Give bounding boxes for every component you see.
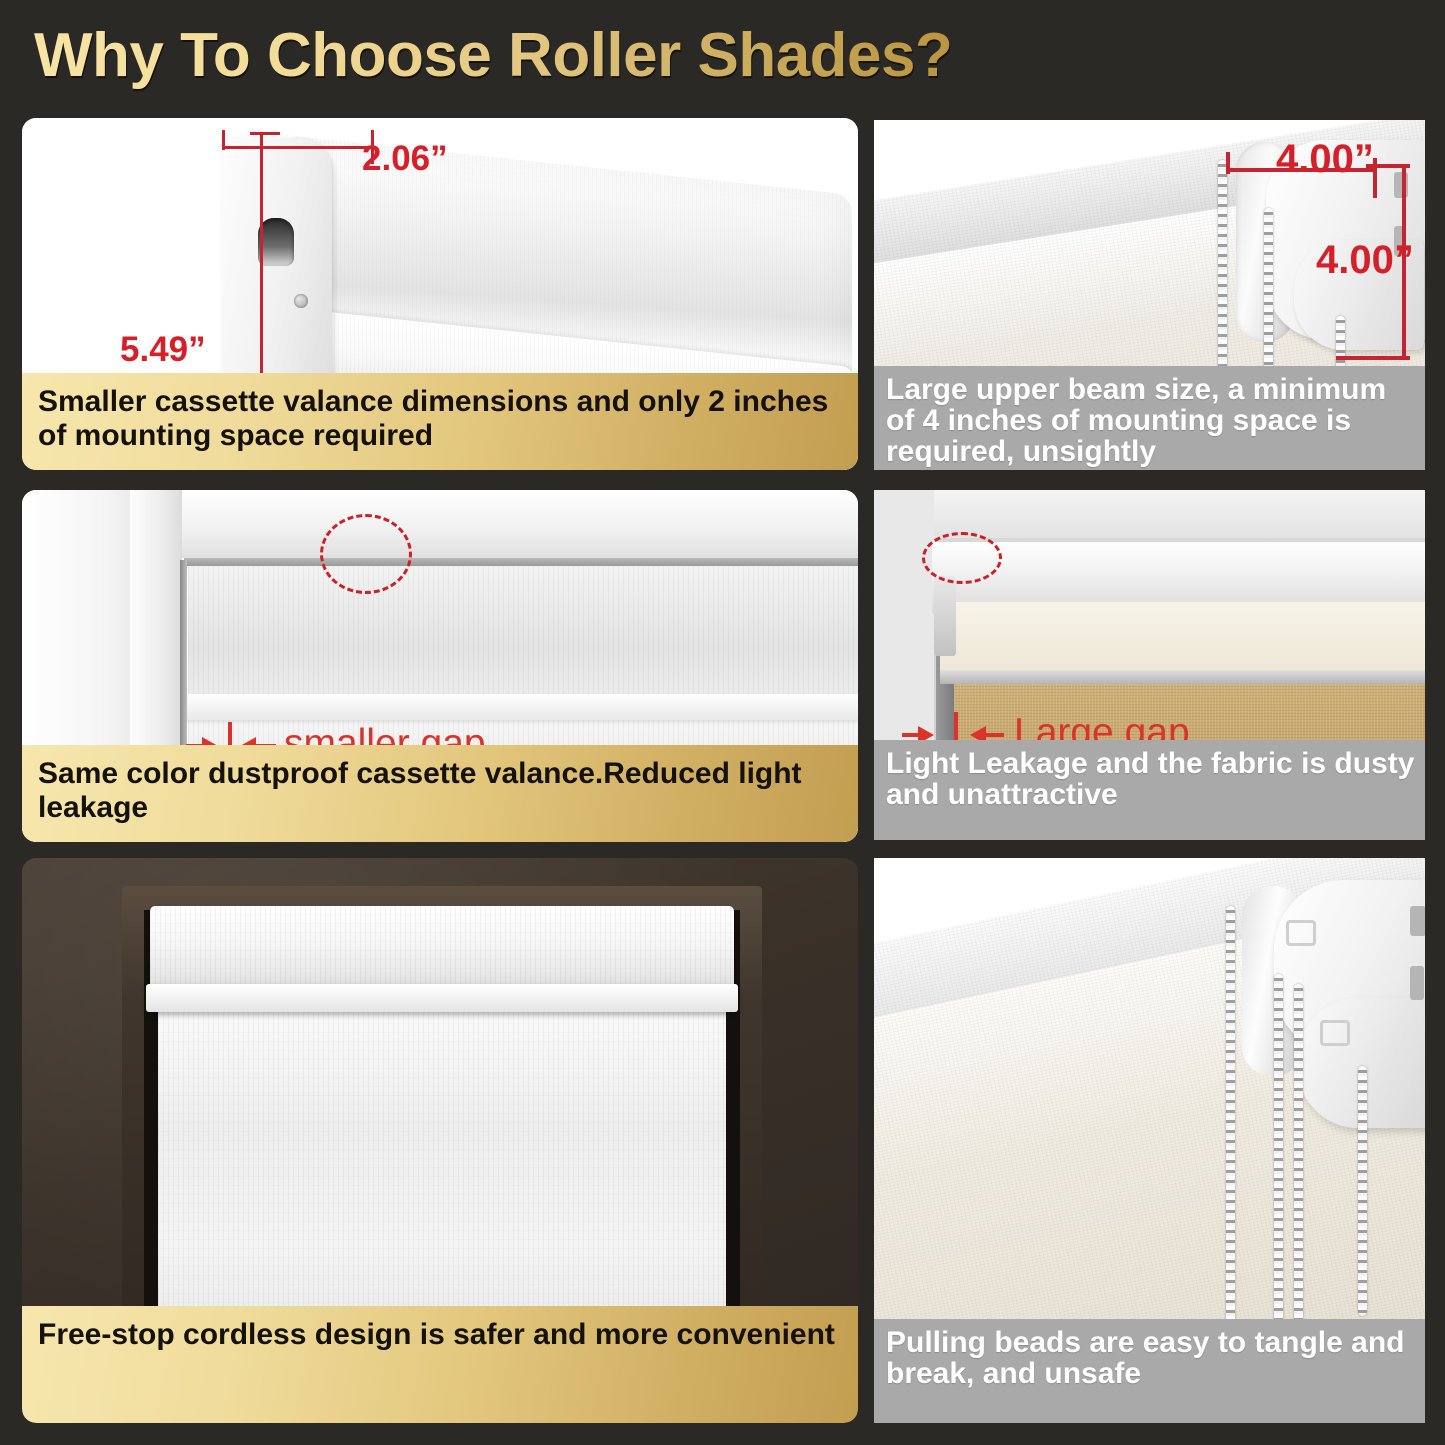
endcap-screw-icon <box>294 294 308 308</box>
cassette-valance <box>150 906 734 996</box>
panel-1-caption: Smaller cassette valance dimensions and … <box>22 373 858 470</box>
gap-arrow-left-stem <box>902 733 922 737</box>
bead-chain-4[interactable] <box>1358 1066 1367 1316</box>
bracket-logo-icon <box>1286 920 1316 946</box>
panel-light-leakage: Large gap Light Leakage and the fabric i… <box>874 490 1425 840</box>
page-title: Why To Choose Roller Shades? <box>34 20 952 91</box>
competitor-bracket <box>934 576 956 656</box>
beam-height-tick-bottom <box>1336 356 1410 360</box>
height-dim-label: 5.49” <box>120 330 206 370</box>
panel-5-caption: Free-stop cordless design is safer and m… <box>22 1306 858 1423</box>
height-dim-tick-top <box>250 132 280 135</box>
bracket-slot-lower <box>1410 966 1424 1000</box>
gap-arrow-right-stem <box>984 733 1004 737</box>
infographic-root: Why To Choose Roller Shades? 2.06” 5.49”… <box>0 0 1445 1445</box>
bead-chain-2[interactable] <box>1274 974 1283 1324</box>
beam-height-tick-top <box>1366 164 1410 168</box>
bead-chain-1[interactable] <box>1226 906 1235 1326</box>
beam-width-tick-left <box>1226 152 1230 174</box>
gap-highlight-circle <box>922 532 1002 584</box>
beam-height-dim-label: 4.00” <box>1316 238 1414 283</box>
panel-4-caption: Light Leakage and the fabric is dusty an… <box>874 740 1425 840</box>
panel-dustproof-valance: smaller gap Same color dustproof cassett… <box>22 490 858 842</box>
width-dim-label: 2.06” <box>362 139 448 179</box>
panel-3-caption: Same color dustproof cassette valance.Re… <box>22 745 858 842</box>
endcap-slot <box>258 218 294 266</box>
panel-2-caption: Large upper beam size, a minimum of 4 in… <box>874 366 1425 470</box>
panel-pulling-beads: Pulling beads are easy to tangle and bre… <box>874 858 1425 1423</box>
panel-smaller-cassette: 2.06” 5.49” Smaller cassette valance dim… <box>22 118 858 470</box>
bracket-slot-upper <box>1410 906 1425 936</box>
beam-width-dim-label: 4.00” <box>1276 137 1374 182</box>
bracket-logo-icon-lower <box>1320 1020 1350 1046</box>
panel-6-caption: Pulling beads are easy to tangle and bre… <box>874 1319 1425 1423</box>
width-dim-tick-left <box>222 130 225 150</box>
gap-highlight-circle <box>320 514 412 594</box>
panel-cordless-design: Free-stop cordless design is safer and m… <box>22 858 858 1423</box>
panel-large-upper-beam: 4.00” 4.00” Large upper beam size, a min… <box>874 120 1425 470</box>
roller-shade-fabric <box>158 1008 726 1348</box>
width-dim-line <box>222 146 374 149</box>
bead-chain-3[interactable] <box>1294 984 1303 1324</box>
